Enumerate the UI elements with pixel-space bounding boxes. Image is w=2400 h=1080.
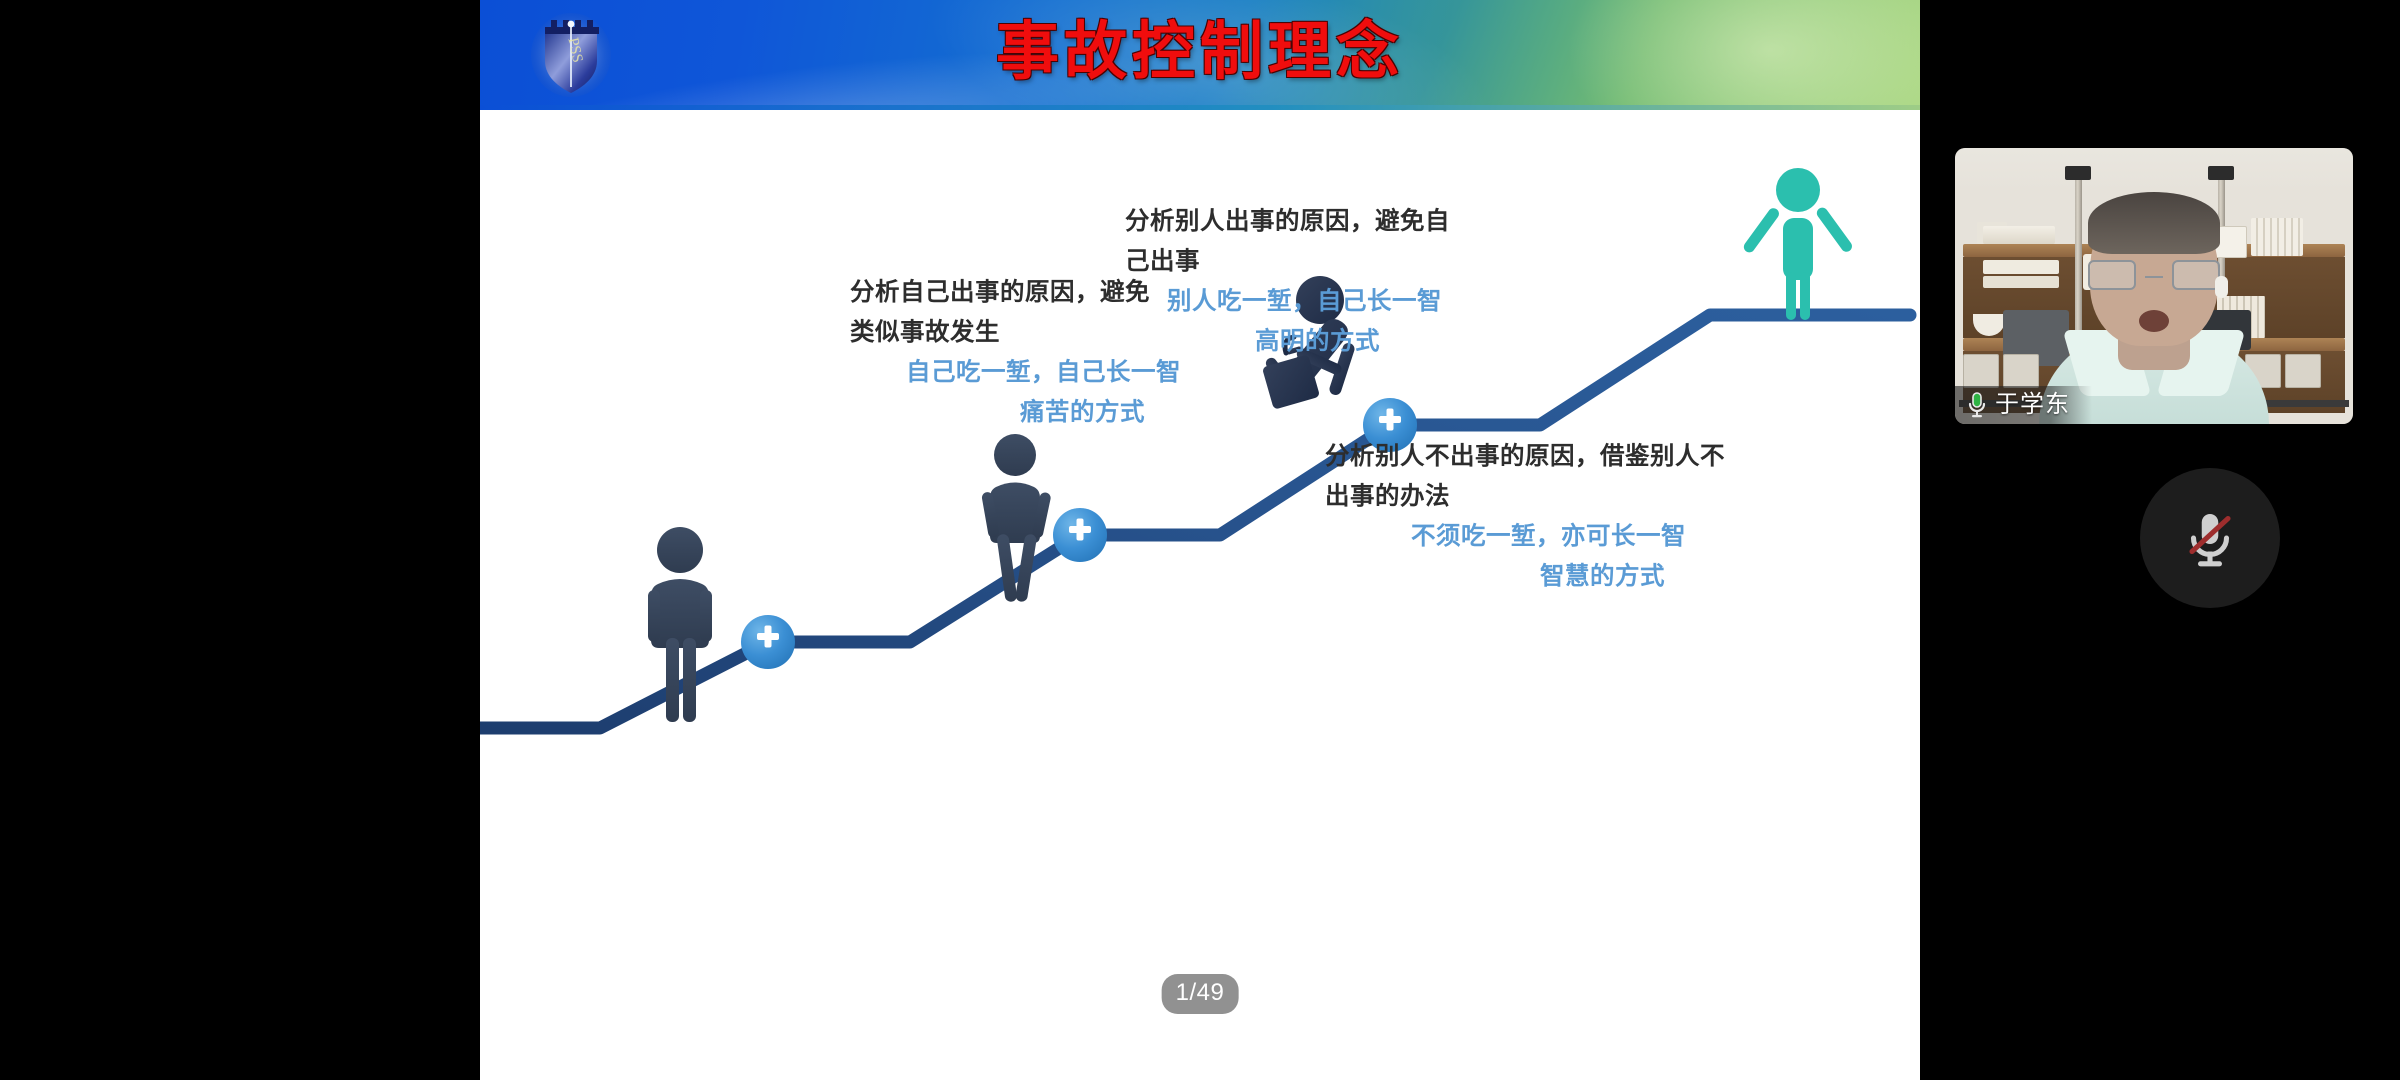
participant-video-tile[interactable]: 于学东	[1955, 148, 2353, 424]
callout-other-main-1: 分析别人出事的原因，避免自	[1125, 202, 1450, 242]
slide-header-banner: PSS 事故控制理念	[480, 0, 1920, 110]
meeting-screen: PSS 事故控制理念	[0, 0, 2400, 1080]
callout-safe: 分析别人不出事的原因，借鉴别人不 出事的办法 不须吃一堑，亦可长一智 智慧的方式	[1325, 437, 1725, 597]
plus-node-2	[1053, 508, 1107, 562]
shared-slide[interactable]: PSS 事故控制理念	[480, 0, 1920, 1080]
drawer-unit	[2285, 354, 2321, 388]
callout-safe-sub-2: 智慧的方式	[1325, 557, 1725, 597]
mic-on-icon	[1967, 392, 1987, 418]
callout-safe-main-1: 分析别人不出事的原因，借鉴别人不	[1325, 437, 1725, 477]
person-mouth	[2139, 310, 2169, 332]
earbud-icon	[2215, 276, 2228, 298]
video-virtual-background	[1955, 148, 2353, 424]
participant-name-label: 于学东	[1995, 391, 2070, 419]
glasses-lens-right	[2172, 260, 2220, 290]
figure-victory-teal	[1742, 168, 1854, 320]
mute-toggle-button[interactable]	[2140, 468, 2280, 608]
callout-safe-main-2: 出事的办法	[1325, 477, 1725, 517]
drawer-unit	[1963, 354, 1999, 388]
shelf-bracket	[2208, 166, 2234, 180]
glasses-lens-left	[2088, 260, 2136, 290]
callout-other-sub-2: 高明的方式	[1125, 322, 1450, 362]
shelf-bracket	[2065, 166, 2091, 180]
callout-self-sub-2: 痛苦的方式	[850, 393, 1181, 433]
person-hair	[2088, 192, 2220, 254]
callout-other-sub-1: 别人吃一堑，自己长一智	[1125, 282, 1450, 322]
slide-body: 分析自己出事的原因，避免 类似事故发生 自己吃一堑，自己长一智 痛苦的方式 分析…	[480, 110, 1920, 1080]
drawer-unit	[2003, 354, 2039, 388]
page-indicator: 1/49	[1162, 974, 1239, 1014]
mic-muted-icon	[2174, 502, 2246, 574]
callout-safe-sub-1: 不须吃一堑，亦可长一智	[1325, 517, 1725, 557]
plus-node-1	[741, 615, 795, 669]
callout-other-main-2: 己出事	[1125, 242, 1450, 282]
participant-name-plate: 于学东	[1955, 386, 2092, 424]
glasses-bridge	[2145, 276, 2163, 278]
page-title: 事故控制理念	[480, 4, 1920, 100]
callout-other: 分析别人出事的原因，避免自 己出事 别人吃一堑，自己长一智 高明的方式	[1125, 202, 1450, 362]
